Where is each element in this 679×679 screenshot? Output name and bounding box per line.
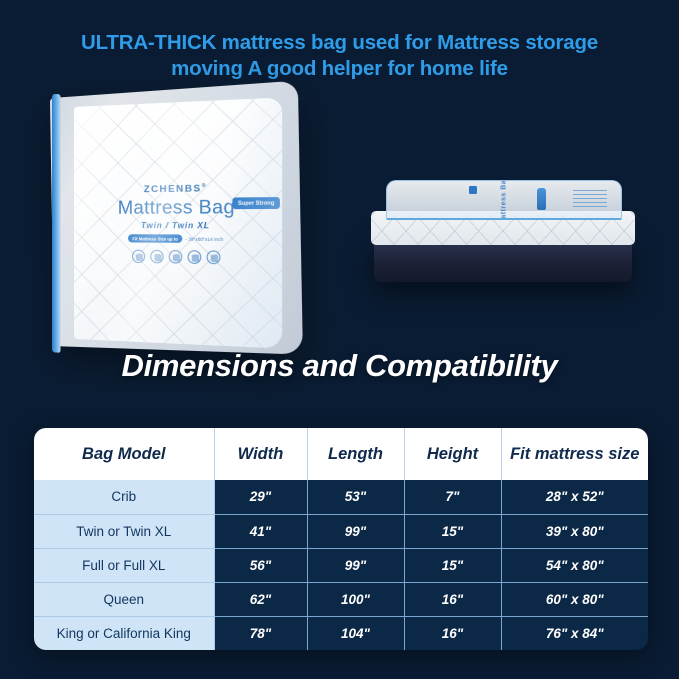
bag-seal-strip — [52, 94, 61, 353]
waterproof-icon — [132, 250, 145, 264]
package-size-variant: Twin / Twin XL — [84, 221, 274, 231]
table-body: Crib 29" 53" 7" 28" x 52" Twin or Twin X… — [34, 480, 648, 650]
table-row: Crib 29" 53" 7" 28" x 52" — [34, 480, 648, 514]
bag-cover-label: Mattress Bag — [501, 180, 508, 220]
column-header-height: Height — [404, 428, 501, 480]
fit-size-fineprint: Fit Mattress Size up to - 39"x80"x14 inc… — [84, 234, 274, 243]
brand-name: ZCHENBS® — [84, 182, 274, 196]
column-header-width: Width — [214, 428, 307, 480]
cell-width: 62" — [214, 582, 307, 616]
cell-height: 15" — [404, 548, 501, 582]
fit-size-pill: Fit Mattress Size up to — [128, 234, 182, 243]
table-row: Full or Full XL 56" 99" 15" 54" x 80" — [34, 548, 648, 582]
headline-line-2: moving A good helper for home life — [26, 56, 653, 82]
table-row: Twin or Twin XL 41" 99" 15" 39" x 80" — [34, 514, 648, 548]
table-row: Queen 62" 100" 16" 60" x 80" — [34, 582, 648, 616]
cell-length: 53" — [307, 480, 404, 514]
cell-fit: 39" x 80" — [501, 514, 648, 548]
cell-height: 15" — [404, 514, 501, 548]
cell-fit: 28" x 52" — [501, 480, 648, 514]
cell-model: Crib — [34, 480, 214, 514]
bag-text-lines — [573, 190, 607, 208]
headline-line-1: ULTRA-THICK mattress bag used for Mattre… — [26, 30, 653, 56]
table-row: King or California King 78" 104" 16" 76"… — [34, 616, 648, 650]
cell-width: 78" — [214, 616, 307, 650]
cell-height: 16" — [404, 616, 501, 650]
cell-height: 16" — [404, 582, 501, 616]
trademark-symbol: ® — [202, 183, 207, 189]
fit-size-value: - 39"x80"x14 inch — [185, 236, 223, 241]
clear-bag-cover: Mattress Bag — [386, 180, 622, 220]
bag-logo-square — [469, 186, 477, 194]
column-header-length: Length — [307, 428, 404, 480]
mattress-inside-bag: ZCHENBS® Mattress Bag Twin / Twin XL Sup… — [74, 97, 282, 348]
brand-text: ZCHENBS — [144, 183, 202, 195]
cell-length: 99" — [307, 548, 404, 582]
tear-resistant-icon — [168, 250, 182, 264]
cell-width: 29" — [214, 480, 307, 514]
moving-icon — [187, 250, 201, 264]
cell-length: 104" — [307, 616, 404, 650]
cell-fit: 54" x 80" — [501, 548, 648, 582]
cell-length: 100" — [307, 582, 404, 616]
package-label: ZCHENBS® Mattress Bag Twin / Twin XL Sup… — [84, 182, 274, 265]
cell-model: King or California King — [34, 616, 214, 650]
cell-width: 41" — [214, 514, 307, 548]
cell-width: 56" — [214, 548, 307, 582]
cell-length: 99" — [307, 514, 404, 548]
cell-fit: 76" x 84" — [501, 616, 648, 650]
reusable-icon — [206, 251, 220, 265]
column-header-fit-mattress-size: Fit mattress size — [501, 428, 648, 480]
cell-model: Twin or Twin XL — [34, 514, 214, 548]
mattress-base — [374, 240, 632, 282]
product-package-image: ZCHENBS® Mattress Bag Twin / Twin XL Sup… — [52, 98, 287, 346]
dimensions-table: Bag Model Width Length Height Fit mattre… — [34, 428, 648, 650]
mattress-in-bag-image: Mattress Bag — [368, 178, 640, 296]
cell-height: 7" — [404, 480, 501, 514]
dustproof-icon — [150, 250, 163, 264]
cell-model: Full or Full XL — [34, 548, 214, 582]
infographic-canvas: ULTRA-THICK mattress bag used for Mattre… — [0, 0, 679, 679]
page-headline: ULTRA-THICK mattress bag used for Mattre… — [0, 30, 679, 82]
table-header-row: Bag Model Width Length Height Fit mattre… — [34, 428, 648, 480]
cell-model: Queen — [34, 582, 214, 616]
section-title: Dimensions and Compatibility — [0, 348, 679, 384]
super-strong-badge: Super Strong — [233, 197, 280, 209]
bag-bottle-graphic — [537, 188, 546, 210]
cell-fit: 60" x 80" — [501, 582, 648, 616]
spec-table: Bag Model Width Length Height Fit mattre… — [34, 428, 648, 650]
column-header-bag-model: Bag Model — [34, 428, 214, 480]
